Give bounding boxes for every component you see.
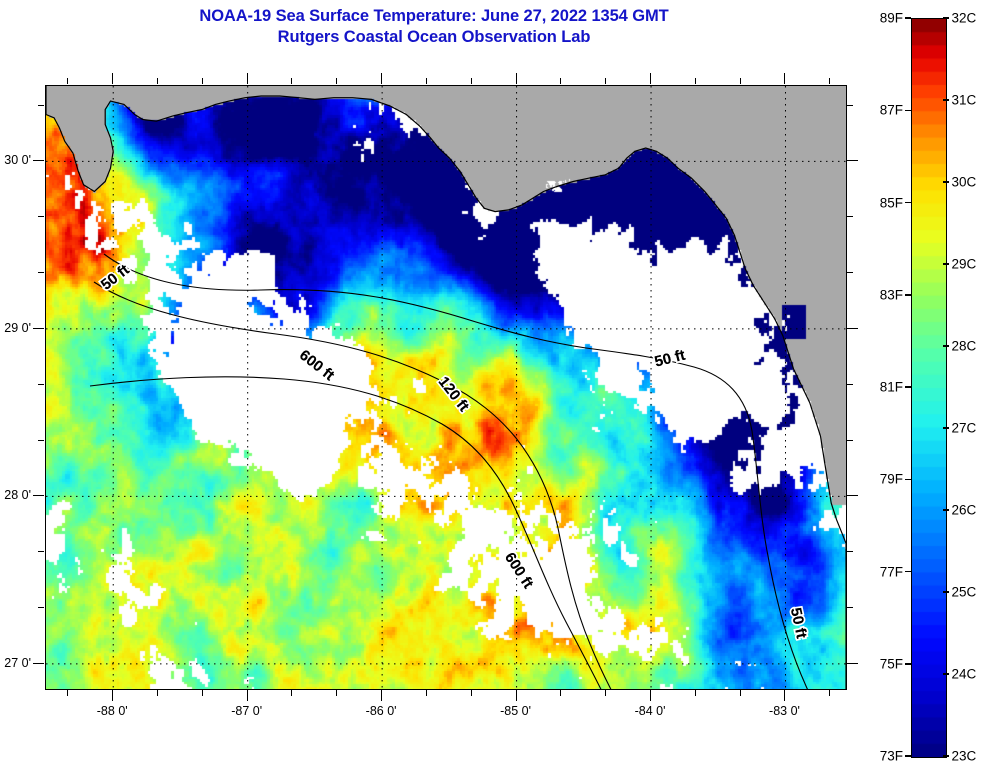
y-axis-tick-label: 28 0': [0, 488, 31, 502]
colorbar-label-celsius: 29C: [952, 257, 977, 272]
colorbar-tick-f: [905, 755, 911, 757]
y-tick: [38, 272, 44, 273]
x-tick-top: [247, 73, 248, 84]
x-tick: [247, 690, 248, 701]
x-tick: [336, 690, 337, 696]
x-tick-top: [829, 78, 830, 84]
y-axis-tick-label: 29 0': [0, 321, 31, 335]
colorbar-tick-f: [905, 663, 911, 665]
x-tick: [695, 690, 696, 696]
y-tick: [33, 663, 44, 664]
x-tick-top: [336, 78, 337, 84]
y-tick-right: [847, 216, 853, 217]
x-axis-tick-label: -83 0': [769, 704, 800, 718]
colorbar-label-celsius: 31C: [952, 93, 977, 108]
colorbar-tick-c: [943, 427, 949, 429]
x-tick-top: [471, 78, 472, 84]
colorbar-tick-f: [905, 571, 911, 573]
temperature-colorbar[interactable]: [911, 18, 947, 758]
colorbar-tick-f: [905, 386, 911, 388]
sst-map-plot[interactable]: 50 ft50 ft600 ft600 ft120 ft120 ft600 ft…: [45, 85, 847, 690]
y-tick-right: [847, 663, 858, 664]
colorbar-tick-c: [943, 509, 949, 511]
colorbar-label-fahrenheit: 77F: [880, 564, 903, 579]
y-tick: [38, 384, 44, 385]
y-tick-right: [847, 607, 853, 608]
colorbar-label-fahrenheit: 73F: [880, 749, 903, 764]
x-tick-top: [381, 73, 382, 84]
colorbar-label-celsius: 23C: [952, 749, 977, 764]
y-tick: [33, 160, 44, 161]
y-tick: [38, 440, 44, 441]
x-tick-top: [67, 78, 68, 84]
y-tick: [33, 328, 44, 329]
x-tick: [605, 690, 606, 696]
x-axis-tick-label: -84 0': [635, 704, 666, 718]
colorbar-label-fahrenheit: 75F: [880, 656, 903, 671]
y-tick-right: [847, 328, 858, 329]
colorbar-tick-c: [943, 591, 949, 593]
y-tick-right: [847, 105, 853, 106]
x-tick: [740, 690, 741, 696]
colorbar-tick-f: [905, 479, 911, 481]
x-axis-tick-label: -88 0': [97, 704, 128, 718]
x-tick: [650, 690, 651, 701]
colorbar-tick-c: [943, 17, 949, 19]
title-line-2: Rutgers Coastal Ocean Observation Lab: [0, 27, 868, 48]
colorbar-label-celsius: 32C: [952, 11, 977, 26]
x-tick-top: [426, 78, 427, 84]
x-tick: [516, 690, 517, 701]
y-tick: [38, 105, 44, 106]
y-tick-right: [847, 272, 853, 273]
x-tick: [157, 690, 158, 696]
page-title: NOAA-19 Sea Surface Temperature: June 27…: [0, 6, 868, 48]
colorbar-label-fahrenheit: 87F: [880, 103, 903, 118]
y-tick: [38, 607, 44, 608]
x-tick-top: [291, 78, 292, 84]
x-tick-top: [784, 73, 785, 84]
x-tick-top: [695, 78, 696, 84]
y-tick-right: [847, 160, 858, 161]
x-tick: [784, 690, 785, 701]
colorbar-tick-f: [905, 17, 911, 19]
colorbar-tick-f: [905, 110, 911, 112]
x-tick: [291, 690, 292, 696]
colorbar-label-celsius: 25C: [952, 585, 977, 600]
colorbar-tick-c: [943, 755, 949, 757]
title-line-1: NOAA-19 Sea Surface Temperature: June 27…: [0, 6, 868, 27]
x-tick: [381, 690, 382, 701]
x-tick: [829, 690, 830, 696]
colorbar-label-celsius: 26C: [952, 503, 977, 518]
colorbar-label-fahrenheit: 89F: [880, 11, 903, 26]
x-tick-top: [516, 73, 517, 84]
x-tick-top: [202, 78, 203, 84]
x-axis-tick-label: -86 0': [366, 704, 397, 718]
colorbar-label-fahrenheit: 83F: [880, 287, 903, 302]
colorbar-label-celsius: 30C: [952, 175, 977, 190]
colorbar-tick-c: [943, 345, 949, 347]
colorbar-label-fahrenheit: 79F: [880, 472, 903, 487]
x-tick: [560, 690, 561, 696]
colorbar-tick-c: [943, 263, 949, 265]
y-tick-right: [847, 551, 853, 552]
x-tick: [112, 690, 113, 701]
y-tick-right: [847, 384, 853, 385]
x-tick: [202, 690, 203, 696]
colorbar-tick-c: [943, 99, 949, 101]
x-tick-top: [605, 78, 606, 84]
y-axis-tick-label: 27 0': [0, 656, 31, 670]
colorbar-label-fahrenheit: 85F: [880, 195, 903, 210]
x-tick-top: [157, 78, 158, 84]
colorbar-gradient: [912, 19, 946, 757]
y-tick: [38, 551, 44, 552]
y-tick-right: [847, 440, 853, 441]
x-tick-top: [560, 78, 561, 84]
colorbar-label-fahrenheit: 81F: [880, 380, 903, 395]
colorbar-tick-c: [943, 181, 949, 183]
x-tick-top: [650, 73, 651, 84]
x-axis-tick-label: -87 0': [231, 704, 262, 718]
x-tick-top: [740, 78, 741, 84]
colorbar-label-celsius: 24C: [952, 667, 977, 682]
x-tick: [471, 690, 472, 696]
colorbar-label-celsius: 27C: [952, 421, 977, 436]
colorbar-tick-f: [905, 294, 911, 296]
y-tick: [33, 495, 44, 496]
x-axis-tick-label: -85 0': [500, 704, 531, 718]
x-tick: [426, 690, 427, 696]
x-tick-top: [112, 73, 113, 84]
sst-raster-layer: [46, 86, 846, 689]
y-tick: [38, 216, 44, 217]
colorbar-label-celsius: 28C: [952, 339, 977, 354]
y-axis-tick-label: 30 0': [0, 153, 31, 167]
x-tick: [67, 690, 68, 696]
colorbar-tick-f: [905, 202, 911, 204]
y-tick-right: [847, 495, 858, 496]
colorbar-tick-c: [943, 673, 949, 675]
